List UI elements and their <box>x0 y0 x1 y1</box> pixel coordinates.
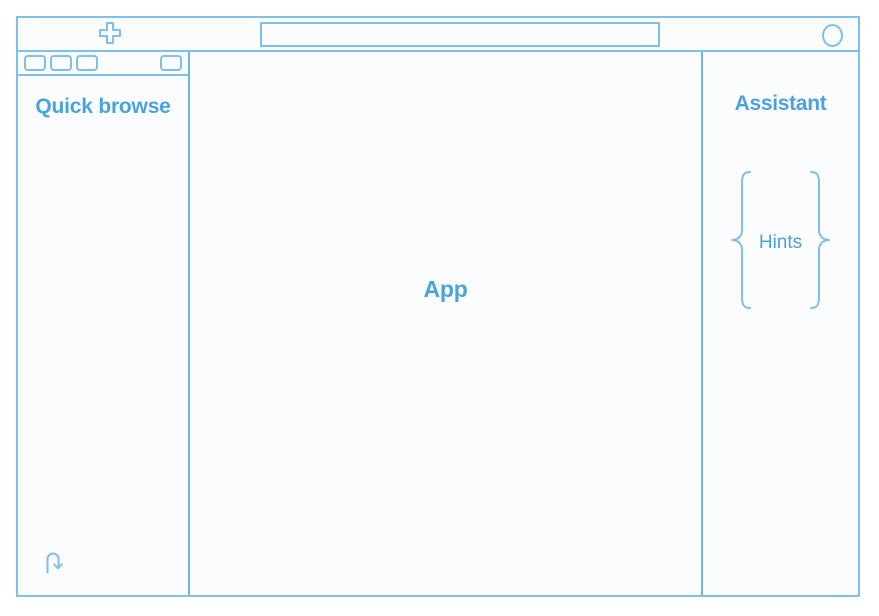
sidebar-tool-2[interactable] <box>50 55 72 71</box>
avatar-button[interactable] <box>820 23 844 47</box>
sidebar-tool-4[interactable] <box>160 55 182 71</box>
sidebar-toolbar <box>18 52 188 76</box>
sidebar-tool-1[interactable] <box>24 55 46 71</box>
app-content-panel: App <box>190 52 703 595</box>
brace-left-icon <box>729 170 755 315</box>
hints-block: Hints <box>729 170 832 315</box>
hints-label: Hints <box>759 232 802 254</box>
assistant-title: Assistant <box>735 92 827 116</box>
add-button[interactable] <box>96 21 124 49</box>
main-body: Quick browse App Assistant <box>18 52 858 595</box>
app-content-label: App <box>423 276 467 303</box>
sidebar-panel: Quick browse <box>18 52 190 595</box>
search-input[interactable] <box>260 22 660 47</box>
sidebar-tool-3[interactable] <box>76 55 98 71</box>
brace-right-icon <box>806 170 832 315</box>
sidebar-footer <box>18 546 188 595</box>
u-turn-arrow-icon[interactable] <box>40 563 70 580</box>
app-window-frame: Quick browse App Assistant <box>16 16 860 597</box>
plus-icon <box>97 20 123 51</box>
top-bar <box>18 18 858 52</box>
circle-avatar-icon <box>822 24 843 47</box>
sidebar-title: Quick browse <box>18 94 188 120</box>
assistant-panel: Assistant Hints <box>703 52 858 595</box>
